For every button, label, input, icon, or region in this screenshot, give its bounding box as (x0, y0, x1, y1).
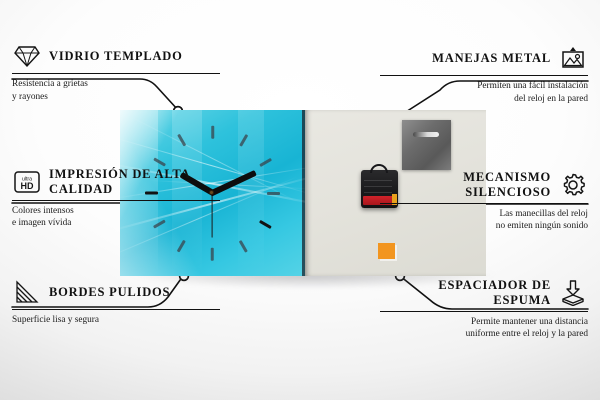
feature-manejas-metal: MANEJAS METAL Permiten una fácil instala… (380, 44, 588, 105)
underline (12, 73, 220, 74)
picture-hanger-icon (558, 44, 588, 72)
feature-title: BORDES PULIDOS (49, 285, 170, 300)
feature-title: IMPRESIÓN DE ALTA CALIDAD (49, 167, 220, 197)
svg-text:HD: HD (21, 181, 34, 191)
polished-edge-icon (12, 278, 42, 306)
underline (12, 309, 220, 310)
foam-spacer-icon (558, 279, 588, 307)
feature-bordes-pulidos: BORDES PULIDOS Superficie lisa y segura (12, 278, 220, 327)
feature-title: MANEJAS METAL (432, 51, 551, 66)
feature-impresion-alta-calidad: ultra HD IMPRESIÓN DE ALTA CALIDAD Color… (12, 167, 220, 230)
ultra-hd-badge-icon: ultra HD (12, 168, 42, 196)
feature-desc: Resistencia a grietas y rayones (12, 78, 220, 103)
feature-espaciador-espuma: ESPACIADOR DE ESPUMA Permite mantener un… (380, 278, 588, 341)
hanger-plate (402, 120, 451, 170)
feature-title: MECANISMO SILENCIOSO (380, 170, 551, 200)
feature-title: VIDRIO TEMPLADO (49, 49, 183, 64)
feature-desc: Colores intensos e imagen vívida (12, 205, 220, 230)
underline (12, 200, 220, 201)
feature-desc: Superficie lisa y segura (12, 314, 220, 327)
gear-icon (558, 171, 588, 199)
foam-spacer (378, 243, 395, 259)
diamond-icon (12, 42, 42, 70)
feature-title: ESPACIADOR DE ESPUMA (380, 278, 551, 308)
infographic-canvas: VIDRIO TEMPLADO Resistencia a grietas y … (0, 0, 600, 400)
underline (380, 75, 588, 76)
feature-desc: Permiten una fácil instalación del reloj… (380, 80, 588, 105)
underline (380, 203, 588, 204)
underline (380, 311, 588, 312)
feature-mecanismo-silencioso: MECANISMO SILENCIOSO Las manecillas del … (380, 170, 588, 233)
feature-vidrio-templado: VIDRIO TEMPLADO Resistencia a grietas y … (12, 42, 220, 103)
hanger-slot (413, 132, 439, 137)
feature-desc: Las manecillas del reloj no emiten ningú… (380, 208, 588, 233)
feature-desc: Permite mantener una distancia uniforme … (380, 316, 588, 341)
